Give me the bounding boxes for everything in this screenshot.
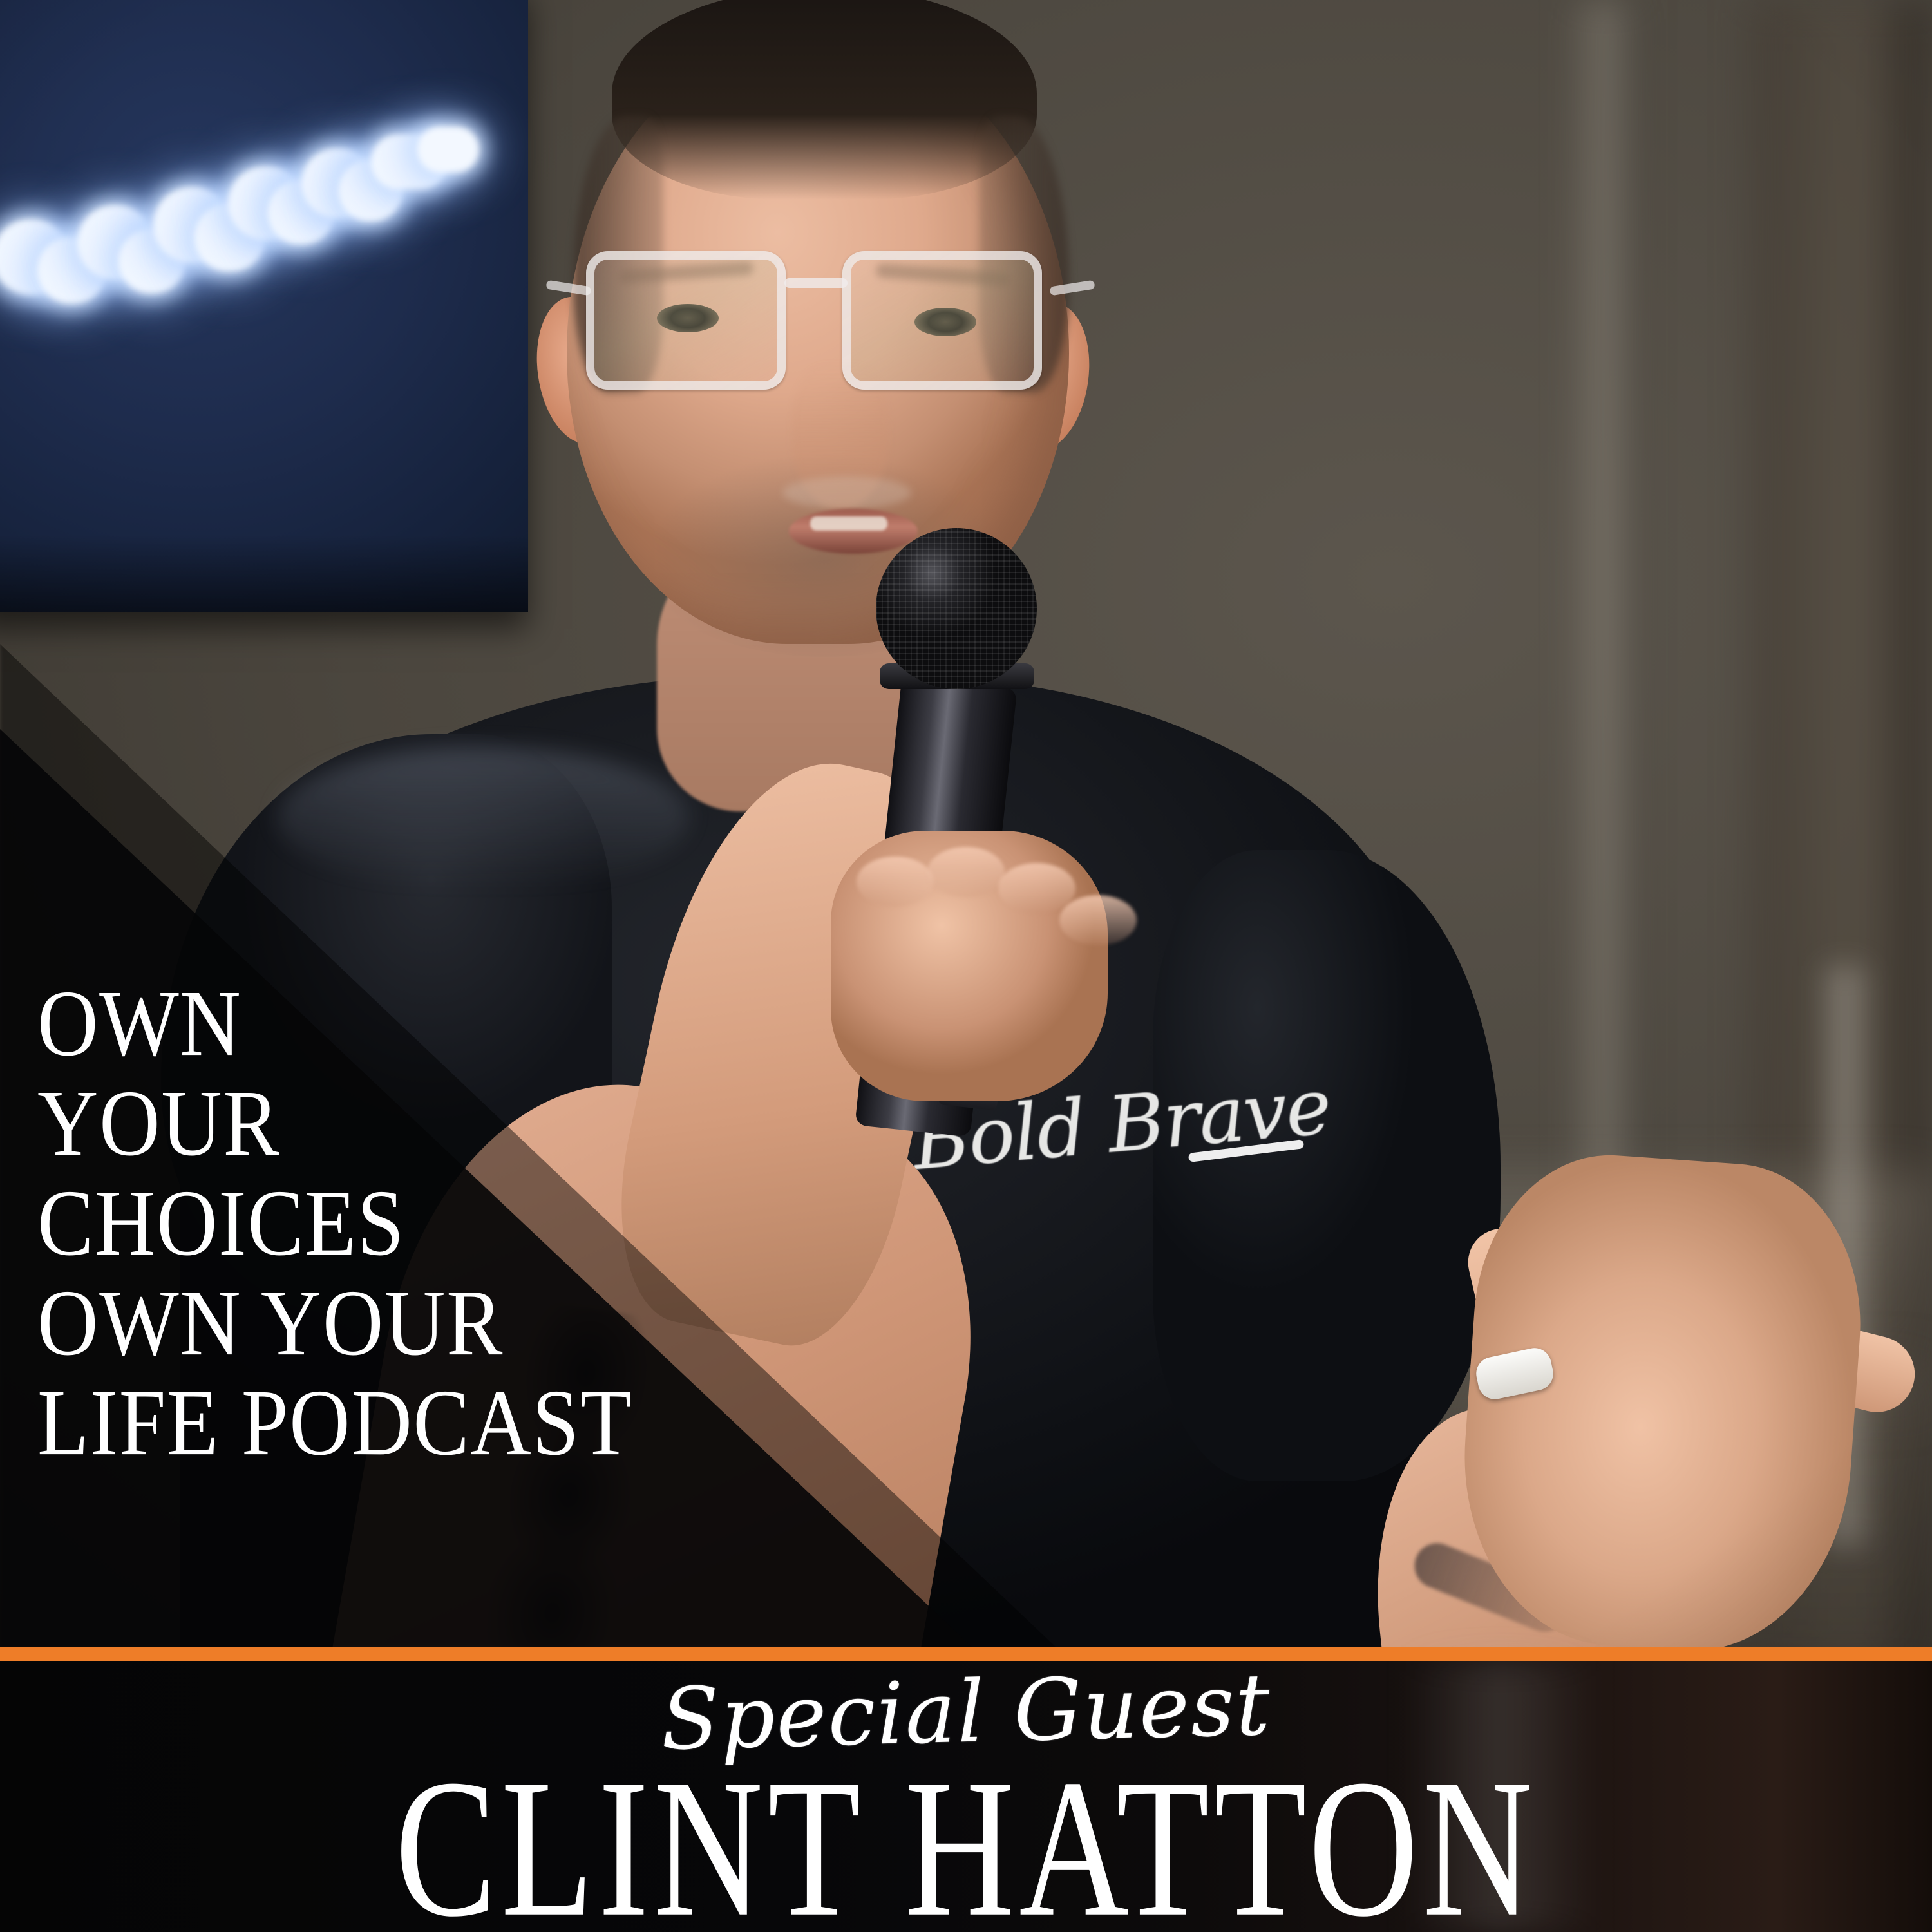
title-line-5: LIFE PODCAST (37, 1376, 952, 1470)
glasses-temple-right (1049, 280, 1095, 296)
title-line-2: YOUR (37, 1076, 952, 1171)
title-line-4: OWN YOUR (37, 1276, 952, 1370)
open-hand-icon (1452, 1146, 1871, 1662)
lens-right (842, 251, 1042, 390)
title-line-3: CHOICES (37, 1176, 952, 1271)
knuckle (998, 863, 1075, 913)
glasses-bridge (784, 278, 848, 288)
glasses-temple-left (545, 280, 591, 296)
hair-top (612, 0, 1037, 200)
podcast-cover-poster: Big Bold Brave (0, 0, 1932, 1932)
knuckle (857, 857, 934, 907)
microphone-grille (876, 528, 1037, 689)
mouth (789, 509, 918, 554)
knuckle (1059, 895, 1137, 945)
guest-name: CLINT HATTON (0, 1750, 1932, 1932)
moustache (782, 477, 911, 509)
speaker-figure: Big Bold Brave (0, 0, 1932, 1932)
shoulder-highlight (277, 747, 689, 889)
background-photo: Big Bold Brave (0, 0, 1932, 1932)
eyeglasses-icon (580, 245, 1069, 412)
podcast-title: OWN YOUR CHOICES OWN YOUR LIFE PODCAST (37, 976, 952, 1475)
lens-left (586, 251, 786, 390)
knuckle (927, 847, 1005, 897)
title-line-1: OWN (37, 976, 952, 1071)
teeth (810, 516, 887, 531)
